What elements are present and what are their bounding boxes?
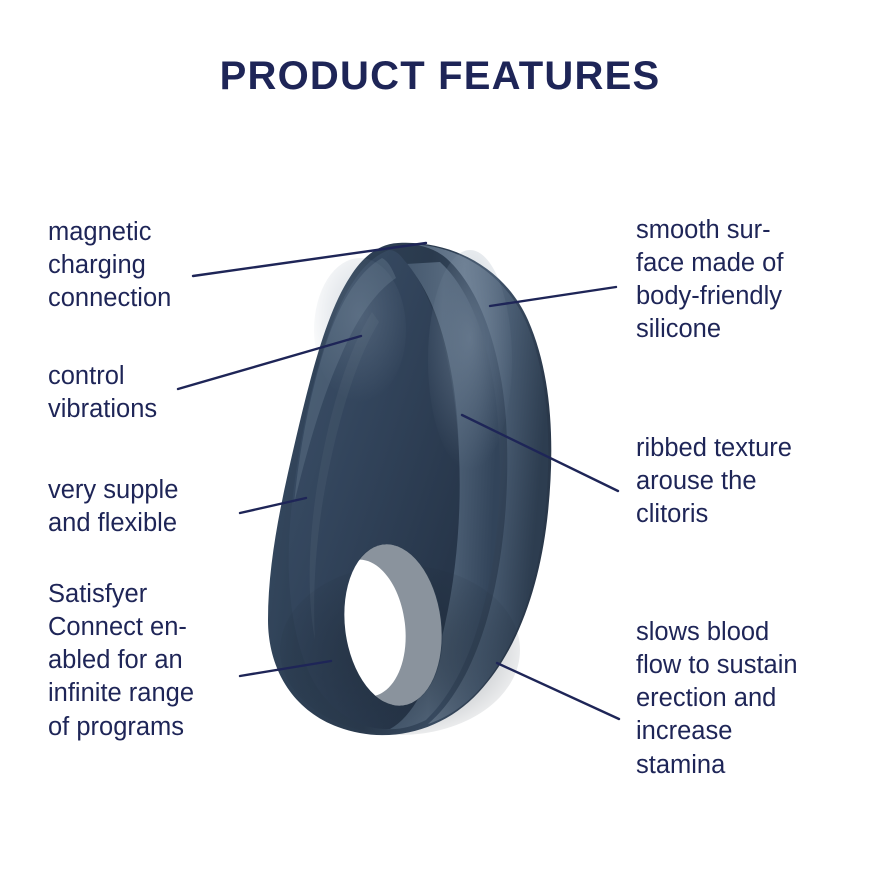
feature-label-ribbed: ribbed texture arouse the clitoris (636, 432, 871, 531)
product-highlight (428, 250, 512, 470)
feature-label-supple: very supple and flexible (48, 474, 273, 540)
feature-label-control: control vibrations (48, 360, 273, 426)
product-highlight-secondary (314, 258, 406, 402)
feature-label-magnetic: magnetic charging connection (48, 216, 273, 315)
feature-label-connect: Satisfyer Connect en- abled for an infin… (48, 578, 273, 744)
feature-label-slows: slows blood flow to sustain erection and… (636, 616, 871, 782)
product-features-infographic: PRODUCT FEATURES (0, 0, 880, 880)
feature-label-smooth: smooth sur- face made of body-friendly s… (636, 214, 871, 347)
